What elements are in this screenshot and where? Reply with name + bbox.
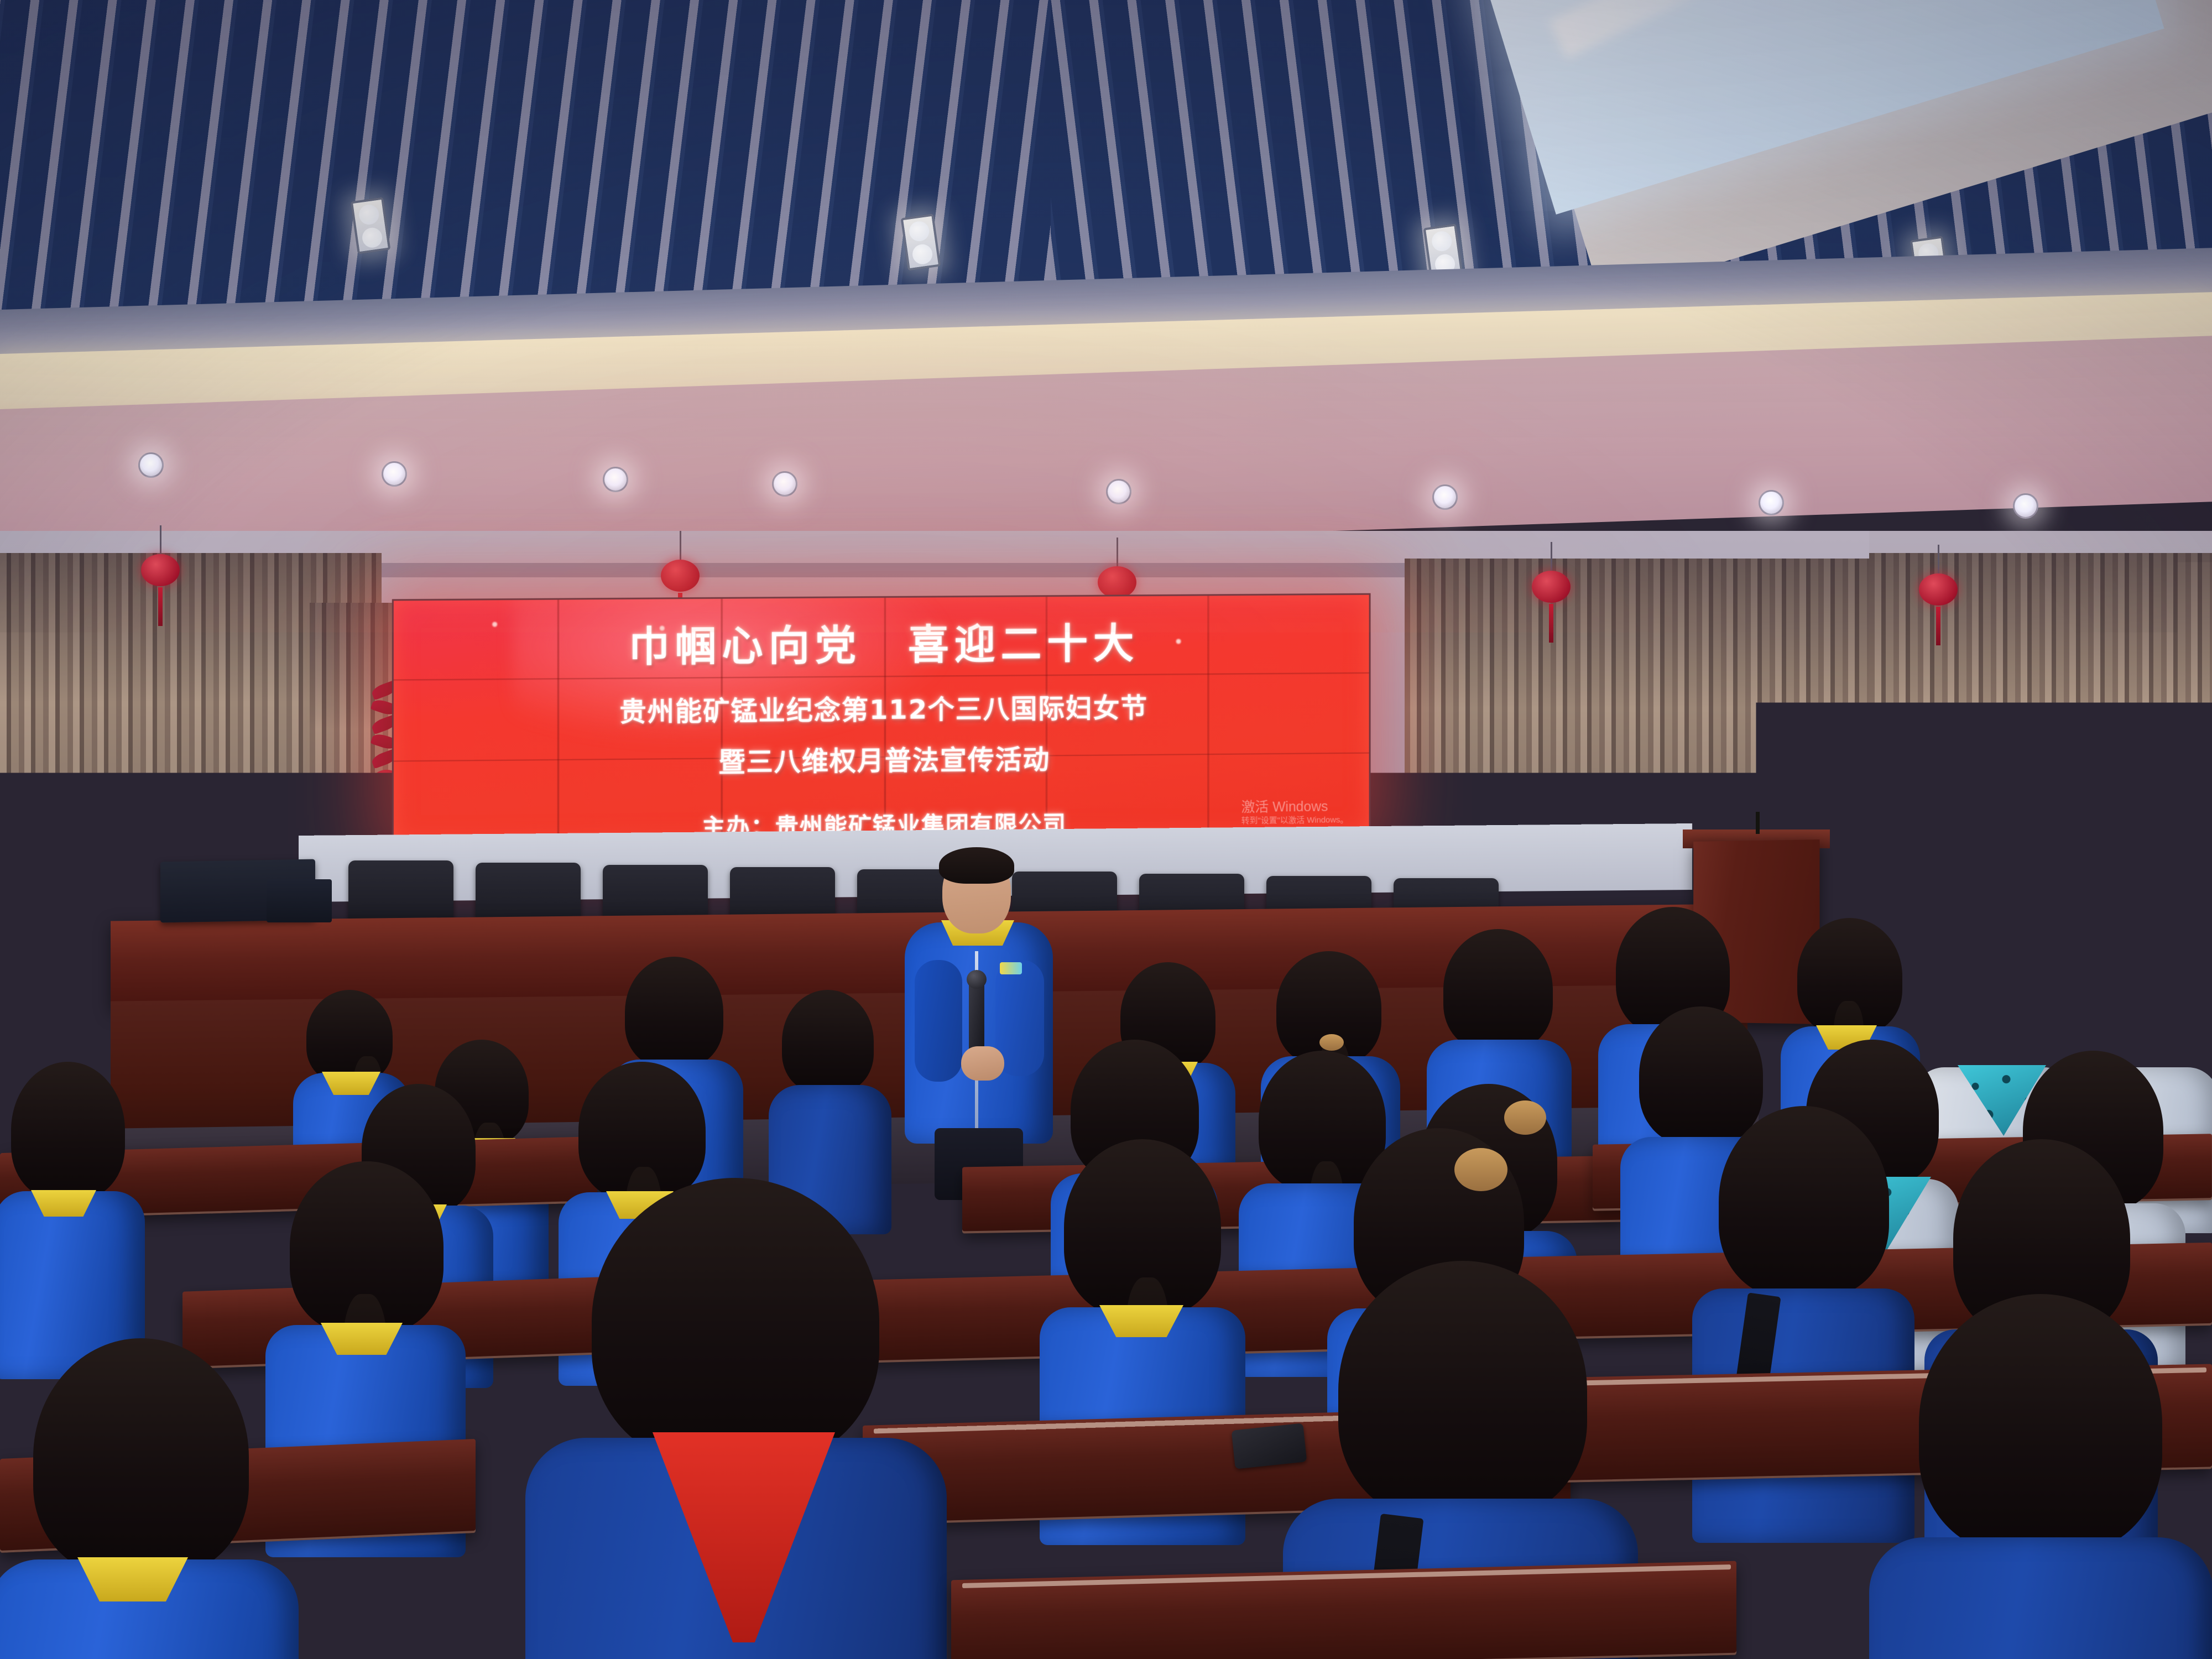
lectern-microphone-icon [1756,812,1760,834]
led-screen-text: 巾帼心向党 喜迎二十大 贵州能矿锰业纪念第112个三八国际妇女节 暨三八维权月普… [394,595,1369,843]
conference-hall-photo: 巾帼心向党 喜迎二十大 贵州能矿锰业纪念第112个三八国际妇女节 暨三八维权月普… [0,0,2212,1659]
wall-ledge [310,563,1405,577]
red-lantern-icon [1532,542,1571,643]
speaker-hair [939,847,1014,884]
recessed-downlight [2013,493,2038,519]
led-video-wall: 巾帼心向党 喜迎二十大 贵州能矿锰业纪念第112个三八国际妇女节 暨三八维权月普… [392,593,1371,844]
recessed-downlight [1759,490,1784,515]
windows-activation-watermark: 激活 Windows 转到"设置"以激活 Windows。 [1241,798,1348,826]
watermark-line-2: 转到"设置"以激活 Windows。 [1241,815,1348,826]
smartphone-on-bench[interactable] [1232,1423,1307,1469]
podium-monitor-secondary [267,879,332,922]
stage-chair [348,860,453,925]
speaker-with-microphone [901,852,1056,1161]
red-lantern-icon [141,525,180,626]
speaker-left-arm [915,960,962,1082]
recessed-downlight [138,452,164,478]
speaker-hand [961,1046,1004,1081]
led-headline: 巾帼心向党 喜迎二十大 [628,611,1139,673]
led-subtitle-line-2: 暨三八维权月普法宣传活动 [718,738,1050,779]
watermark-line-1: 激活 Windows [1241,798,1348,816]
speaker-chest-logo [1000,962,1022,974]
recessed-downlight [1432,484,1458,510]
recessed-downlight [382,461,407,487]
recessed-downlight [1106,479,1131,504]
red-lantern-icon [1919,545,1958,645]
recessed-downlight [603,467,628,492]
led-subtitle-line-1: 贵州能矿锰业纪念第112个三八国际妇女节 [619,686,1148,728]
microphone-head-icon [967,970,987,989]
recessed-downlight [772,471,797,497]
